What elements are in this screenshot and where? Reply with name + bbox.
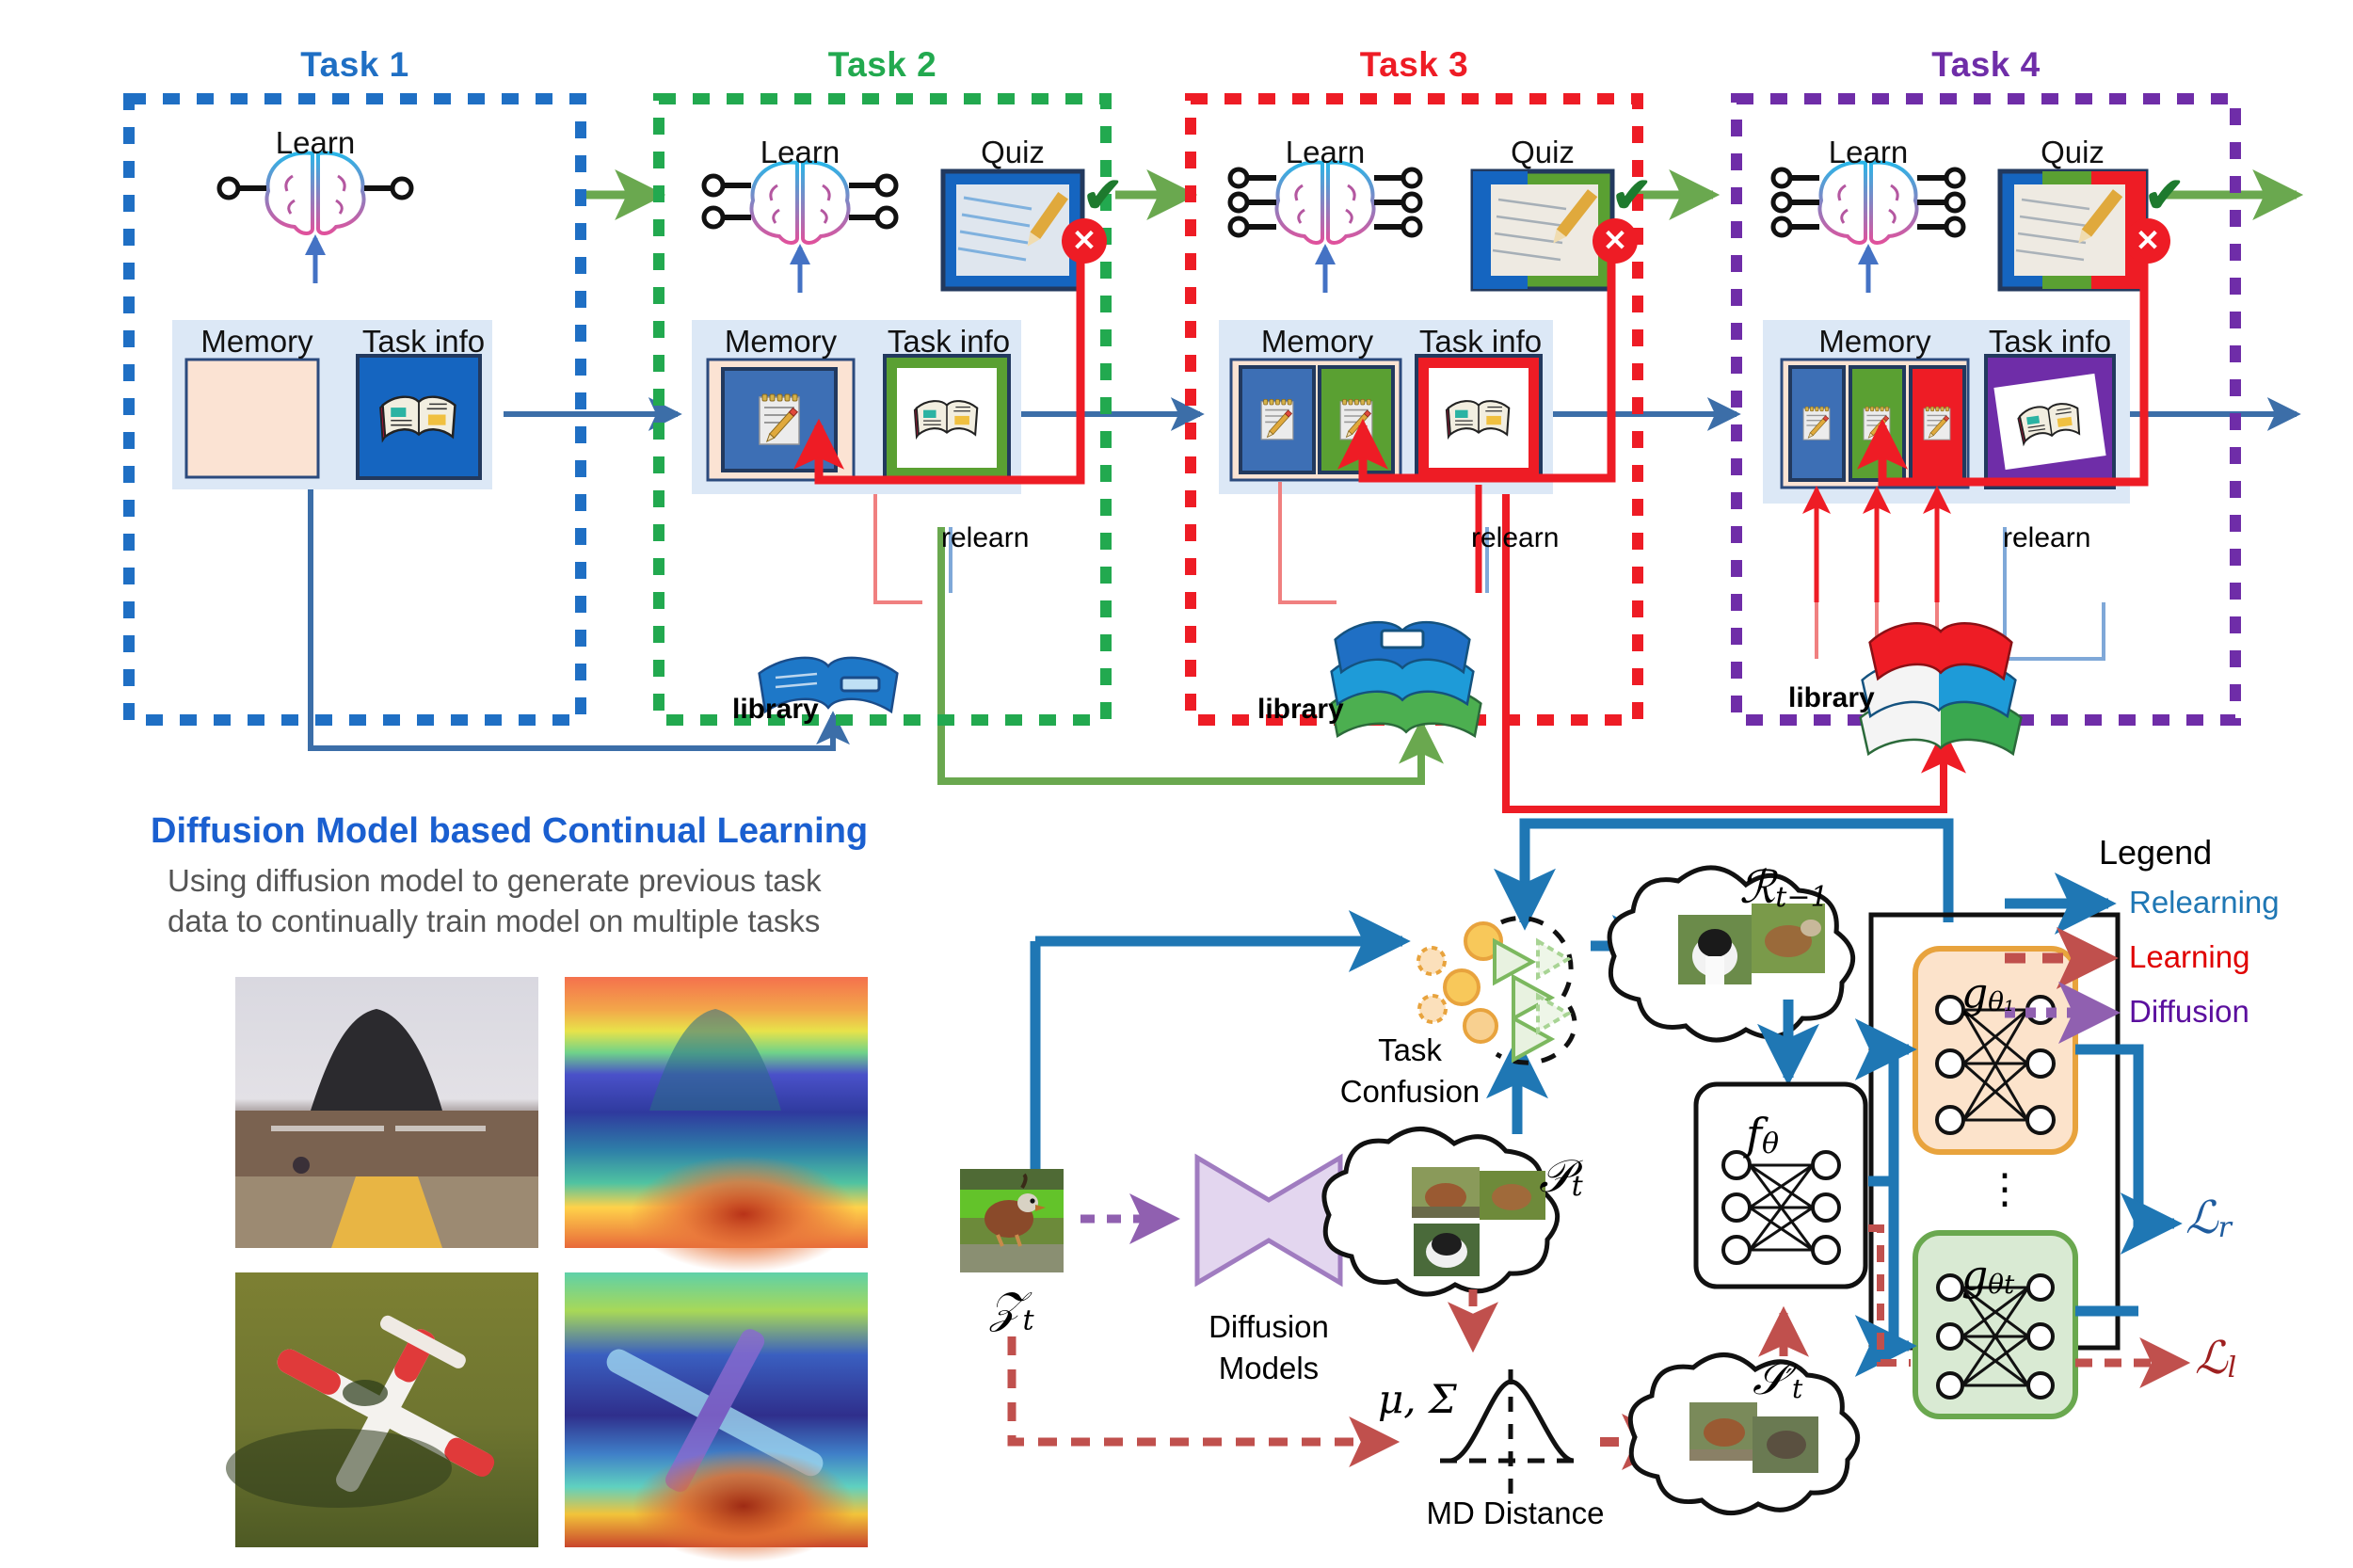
task-2-quiz-label: Quiz: [937, 135, 1088, 170]
g-theta-t-sub: θt: [1988, 1269, 2014, 1300]
legend-title: Legend: [2099, 833, 2212, 872]
task-3-library-label: library: [1257, 694, 1344, 726]
memory-slot: [1850, 367, 1904, 480]
diffusion-model-shape: [1197, 1158, 1340, 1283]
airplane-grass-original: [226, 1272, 538, 1547]
f-theta-label: f: [1746, 1109, 1762, 1160]
legend-item-learning: Learning: [2129, 939, 2249, 975]
task-3-quiz: [1473, 171, 1612, 289]
cloud-pt-sub: t: [1572, 1170, 1583, 1203]
bottom-left-subtitle-2: data to continually train model on multi…: [168, 902, 977, 941]
task-1-taskinfo-label: Task info: [348, 324, 499, 360]
bottom-left-title: Diffusion Model based Continual Learning: [151, 811, 1092, 852]
diffusion-models-label-2: Models: [1184, 1350, 1353, 1387]
task-3-title: Task 3: [1191, 45, 1638, 85]
task-4-relearn-label: relearn: [2003, 522, 2090, 554]
task-1-title: Task 1: [129, 45, 581, 85]
task-4-correct-mark: ✔: [2144, 168, 2185, 224]
task-3-quiz-label: Quiz: [1467, 135, 1618, 170]
task-2-taskinfo-label: Task info: [873, 324, 1024, 360]
zt-sub: t: [1022, 1304, 1033, 1337]
airplane-runway-original: [235, 977, 538, 1248]
diagram-canvas: [0, 0, 2353, 1568]
brain-icon-4: [1773, 163, 1963, 293]
task-1-learn-label: Learn: [240, 125, 391, 161]
cloud-rt-label: ℛ: [1739, 861, 1775, 914]
loss-r-label: ℒ: [2185, 1192, 2218, 1244]
memory-slot: [1241, 367, 1314, 472]
task-3-taskinfo: [1417, 356, 1541, 480]
task-2-learn-label: Learn: [725, 135, 875, 170]
task-3-taskinfo-label: Task info: [1405, 324, 1556, 360]
vdots-separator: ⋮: [1984, 1165, 2027, 1213]
task-1-panel: [129, 99, 581, 720]
task-3-correct-mark: ✔: [1611, 168, 1653, 224]
cloud-st-label: 𝒮: [1753, 1353, 1786, 1404]
task-4-taskinfo-label: Task info: [1975, 324, 2125, 360]
task-4-quiz-label: Quiz: [1997, 135, 2148, 170]
md-params-label: μ, Σ: [1378, 1376, 1457, 1422]
memory-slot: [1790, 367, 1844, 480]
sample-image-grid: [226, 977, 868, 1562]
f-theta-box: [1696, 1084, 1865, 1287]
task-4-learn-label: Learn: [1793, 135, 1944, 170]
task-3-wrong-mark: ✕: [1593, 218, 1638, 264]
memory-slot: [1320, 367, 1393, 472]
cloud-pt: [1324, 1128, 1558, 1294]
cloud-st: [1630, 1354, 1857, 1512]
legend-item-relearning: Relearning: [2129, 885, 2280, 920]
loss-l-sub: l: [2228, 1352, 2237, 1384]
task-3-learn-label: Learn: [1250, 135, 1401, 170]
g-theta-1-label: g: [1961, 969, 1988, 1017]
bottom-left-subtitle-1: Using diffusion model to generate previo…: [168, 861, 977, 901]
task-confusion-label-2: Confusion: [1306, 1073, 1513, 1111]
task-4-taskinfo: [1986, 356, 2114, 488]
g-theta-1-sub: θ₁: [1988, 986, 2014, 1017]
diffusion-models-label-1: Diffusion: [1184, 1308, 1353, 1346]
zt-label: 𝒵: [989, 1282, 1022, 1333]
task-4-memory-label: Memory: [1801, 324, 1949, 360]
loss-l-label: ℒ: [2195, 1332, 2228, 1384]
task-1-memory-label: Memory: [186, 324, 328, 360]
task-2-correct-mark: ✔: [1082, 168, 1124, 224]
brain-icon-2: [704, 163, 896, 293]
md-distance-curve: [1440, 1369, 1586, 1496]
task-4-title: Task 4: [1737, 45, 2235, 85]
cloud-st-sub: t: [1792, 1373, 1802, 1404]
task-2-relearn-label: relearn: [941, 522, 1029, 554]
cloud-rt-sub: t−1: [1775, 881, 1828, 914]
task-1-taskinfo: [358, 356, 480, 478]
task-2-wrong-mark: ✕: [1062, 218, 1107, 264]
task-2-quiz: [943, 171, 1082, 289]
legend-item-diffusion: Diffusion: [2129, 994, 2249, 1030]
task-4-library-icon: [1862, 625, 2020, 752]
md-distance-label: MD Distance: [1402, 1495, 1628, 1532]
task-3-memory-label: Memory: [1244, 324, 1390, 360]
cloud-pt-label: 𝒫: [1539, 1150, 1572, 1203]
brain-icon-3: [1230, 163, 1420, 293]
airplane-runway-heatmap: [565, 977, 868, 1272]
brain-icon-1: [219, 153, 411, 283]
g-theta-t-label: g: [1961, 1252, 1988, 1300]
task-3-library-icon: [1333, 623, 1480, 734]
f-theta-sub: θ: [1762, 1128, 1779, 1160]
task-2-library-label: library: [732, 694, 819, 726]
task-3-relearn-label: relearn: [1471, 522, 1559, 554]
task-4-quiz: [2000, 171, 2146, 289]
task-4-wrong-mark: ✕: [2125, 218, 2170, 264]
task-2-panel: [659, 99, 1106, 720]
memory-slot: [1911, 367, 1964, 480]
task-confusion-label-1: Task: [1325, 1032, 1495, 1069]
task-2-title: Task 2: [659, 45, 1106, 85]
task-2-taskinfo: [885, 356, 1009, 480]
loss-r-sub: r: [2218, 1211, 2232, 1244]
task-2-memory-label: Memory: [708, 324, 854, 360]
input-image-zt: [960, 1169, 1064, 1272]
airplane-grass-heatmap: [565, 1272, 868, 1562]
task-4-library-label: library: [1788, 682, 1875, 714]
